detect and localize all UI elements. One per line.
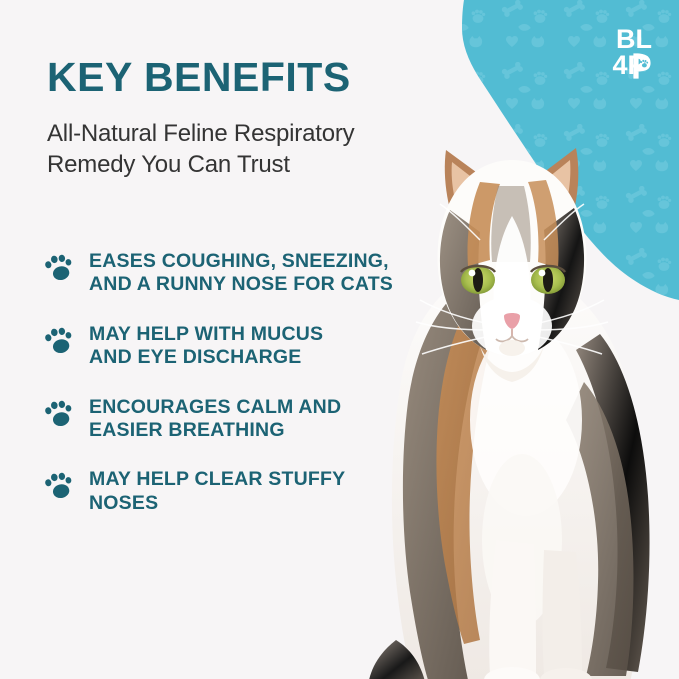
list-item: MAY HELP WITH MUCUS AND EYE DISCHARGE xyxy=(44,323,464,370)
paw-icon xyxy=(44,253,74,283)
list-item: MAY HELP CLEAR STUFFY NOSES xyxy=(44,468,464,515)
paw-icon xyxy=(44,399,74,429)
list-item-label: EASES COUGHING, SNEEZING, AND A RUNNY NO… xyxy=(89,250,393,295)
paw-icon xyxy=(44,326,74,356)
product-benefits-graphic: KEY BENEFITS All-Natural Feline Respirat… xyxy=(0,0,679,679)
paw-icon xyxy=(44,471,74,501)
list-item-label: MAY HELP CLEAR STUFFY NOSES xyxy=(89,468,345,513)
list-item-label: ENCOURAGES CALM AND EASIER BREATHING xyxy=(89,396,341,441)
list-item: ENCOURAGES CALM AND EASIER BREATHING xyxy=(44,396,464,443)
brand-logo: BL 4P xyxy=(603,20,665,82)
page-title: KEY BENEFITS xyxy=(47,56,351,99)
benefits-list: EASES COUGHING, SNEEZING, AND A RUNNY NO… xyxy=(44,250,464,541)
list-item: EASES COUGHING, SNEEZING, AND A RUNNY NO… xyxy=(44,250,464,297)
page-subtitle: All-Natural Feline Respiratory Remedy Yo… xyxy=(47,118,354,180)
list-item-label: MAY HELP WITH MUCUS AND EYE DISCHARGE xyxy=(89,323,323,368)
